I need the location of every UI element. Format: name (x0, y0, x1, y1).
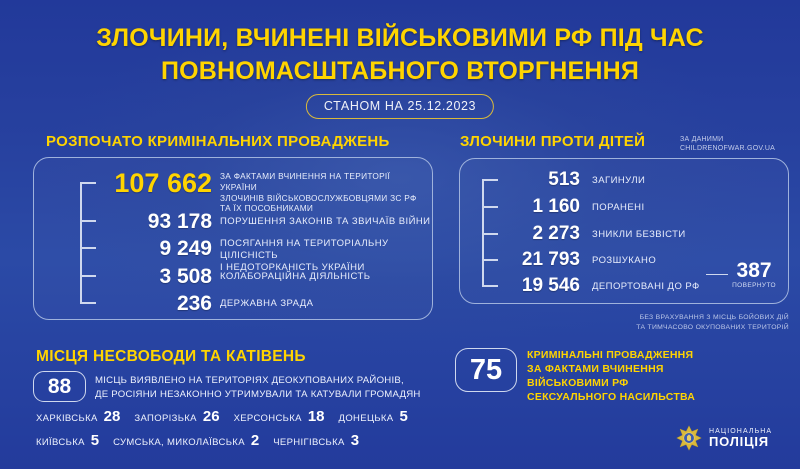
region-value: 28 (104, 408, 121, 425)
list-item: 1 160 ПОРАНЕНІ (502, 197, 645, 216)
region-value: 3 (351, 432, 359, 449)
panel-crimes-against-children: 513 ЗАГИНУЛИ 1 160 ПОРАНЕНІ 2 273 ЗНИКЛИ… (459, 158, 789, 304)
criminal-value-0: 107 662 (100, 170, 212, 197)
criminal-value-4: 236 (100, 293, 212, 314)
list-item: Сумська, Миколаївська 2 (113, 432, 259, 449)
region-list-row-2: Київська 5 Сумська, Миколаївська 2 Черні… (36, 432, 359, 449)
bracket-tick (482, 285, 498, 287)
children-value-0: 513 (502, 170, 580, 189)
page-title: ЗЛОЧИНИ, ВЧИНЕНІ ВІЙСЬКОВИМИ РФ ПІД ЧАС … (0, 22, 800, 88)
list-item: Запорізька 26 (134, 408, 219, 425)
criminal-value-2: 9 249 (100, 238, 212, 259)
region-value: 18 (308, 408, 325, 425)
connector-dash (706, 274, 728, 276)
region-value: 5 (91, 432, 99, 449)
children-value-2: 2 273 (502, 224, 580, 243)
region-name: Херсонська (234, 413, 302, 424)
status-badge-detention-count: 88 (33, 371, 86, 402)
criminal-label-4: ДЕРЖАВНА ЗРАДА (220, 293, 435, 310)
bracket-tick (482, 259, 498, 261)
bracket-tick (80, 302, 96, 304)
source-attribution: ЗА ДАНИМИ CHILDRENOFWAR.GOV.UA (680, 135, 775, 154)
children-value-1: 1 160 (502, 197, 580, 216)
bracket-tick (80, 275, 96, 277)
list-item: 19 546 ДЕПОРТОВАНІ ДО РФ (502, 276, 700, 295)
section-heading-criminal-proceedings: РОЗПОЧАТО КРИМІНАЛЬНИХ ПРОВАДЖЕНЬ (46, 133, 390, 150)
children-rows-list: 513 ЗАГИНУЛИ 1 160 ПОРАНЕНІ 2 273 ЗНИКЛИ… (460, 159, 788, 303)
infographic-root: ЗЛОЧИНИ, ВЧИНЕНІ ВІЙСЬКОВИМИ РФ ПІД ЧАС … (0, 0, 800, 469)
police-star-badge-icon (676, 425, 702, 451)
bracket-tick (80, 182, 96, 184)
list-item: 3 508 КОЛАБОРАЦІЙНА ДІЯЛЬНІСТЬ (100, 266, 435, 287)
children-label-4: ДЕПОРТОВАНІ ДО РФ (592, 276, 700, 293)
returned-children-callout: 387 Повернуто (706, 260, 776, 289)
region-name: Київська (36, 437, 85, 448)
sexual-violence-description: КРИМІНАЛЬНІ ПРОВАДЖЕННЯ ЗА ФАКТАМИ ВЧИНЕ… (527, 349, 797, 405)
title-line-2: ПОВНОМАСШТАБНОГО ВТОРГНЕННЯ (0, 55, 800, 88)
list-item: 513 ЗАГИНУЛИ (502, 170, 645, 189)
date-badge: СТАНОМ НА 25.12.2023 (306, 94, 494, 119)
logo-line-2: Поліція (709, 435, 772, 449)
region-value: 26 (203, 408, 220, 425)
national-police-logo: Національна Поліція (676, 425, 772, 451)
region-value: 5 (399, 408, 407, 425)
list-item: Херсонська 18 (234, 408, 325, 425)
logo-wordmark: Національна Поліція (709, 428, 772, 449)
list-item: 21 793 РОЗШУКАНО (502, 250, 656, 269)
list-item: Чернігівська 3 (273, 432, 359, 449)
bracket-tick (80, 247, 96, 249)
region-name: Донецька (339, 413, 394, 424)
bracket-tick (482, 179, 498, 181)
criminal-label-1: ПОРУШЕННЯ ЗАКОНІВ ТА ЗВИЧАЇВ ВІЙНИ (220, 211, 435, 228)
children-value-4: 19 546 (502, 276, 580, 295)
bracket-tick (482, 206, 498, 208)
list-item: 107 662 ЗА ФАКТАМИ ВЧИНЕННЯ НА ТЕРИТОРІЇ… (100, 170, 425, 214)
region-name: Сумська, Миколаївська (113, 437, 245, 448)
list-item: Донецька 5 (339, 408, 408, 425)
criminal-value-3: 3 508 (100, 266, 212, 287)
list-item: Київська 5 (36, 432, 99, 449)
title-line-1: ЗЛОЧИНИ, ВЧИНЕНІ ВІЙСЬКОВИМИ РФ ПІД ЧАС (0, 22, 800, 55)
list-item: 93 178 ПОРУШЕННЯ ЗАКОНІВ ТА ЗВИЧАЇВ ВІЙН… (100, 211, 435, 232)
region-name: Чернігівська (273, 437, 344, 448)
returned-children-block: 387 Повернуто (732, 260, 776, 289)
bracket-tick (482, 233, 498, 235)
region-value: 2 (251, 432, 259, 449)
region-name: Запорізька (134, 413, 197, 424)
section-heading-crimes-against-children: ЗЛОЧИНИ ПРОТИ ДІТЕЙ (460, 133, 645, 150)
children-label-3: РОЗШУКАНО (592, 250, 656, 267)
criminal-rows-list: 107 662 ЗА ФАКТАМИ ВЧИНЕННЯ НА ТЕРИТОРІЇ… (34, 158, 432, 319)
returned-children-caption: Повернуто (732, 282, 776, 289)
children-label-2: ЗНИКЛИ БЕЗВІСТИ (592, 224, 686, 241)
criminal-value-1: 93 178 (100, 211, 212, 232)
list-item: 2 273 ЗНИКЛИ БЕЗВІСТИ (502, 224, 686, 243)
list-item: Харківська 28 (36, 408, 120, 425)
children-footnote: БЕЗ ВРАХУВАННЯ З МІСЦЬ БОЙОВИХ ДІЙ ТА ТИ… (455, 313, 789, 333)
children-label-1: ПОРАНЕНІ (592, 197, 645, 214)
detention-description: МІСЦЬ ВИЯВЛЕНО НА ТЕРИТОРІЯХ ДЕОКУПОВАНИ… (95, 374, 440, 401)
children-value-3: 21 793 (502, 250, 580, 269)
section-heading-detention-sites: МІСЦЯ НЕСВОБОДИ ТА КАТІВЕНЬ (36, 348, 306, 366)
region-name: Харківська (36, 413, 98, 424)
returned-children-value: 387 (732, 260, 776, 281)
criminal-label-0: ЗА ФАКТАМИ ВЧИНЕННЯ НА ТЕРИТОРІЇ УКРАЇНИ… (220, 170, 425, 214)
bracket-tick (80, 220, 96, 222)
criminal-label-3: КОЛАБОРАЦІЙНА ДІЯЛЬНІСТЬ (220, 266, 435, 283)
list-item: 236 ДЕРЖАВНА ЗРАДА (100, 293, 435, 314)
children-label-0: ЗАГИНУЛИ (592, 170, 645, 187)
panel-criminal-proceedings: 107 662 ЗА ФАКТАМИ ВЧИНЕННЯ НА ТЕРИТОРІЇ… (33, 157, 433, 320)
region-list-row-1: Харківська 28 Запорізька 26 Херсонська 1… (36, 408, 408, 425)
status-badge-sexual-violence-count: 75 (455, 348, 517, 392)
